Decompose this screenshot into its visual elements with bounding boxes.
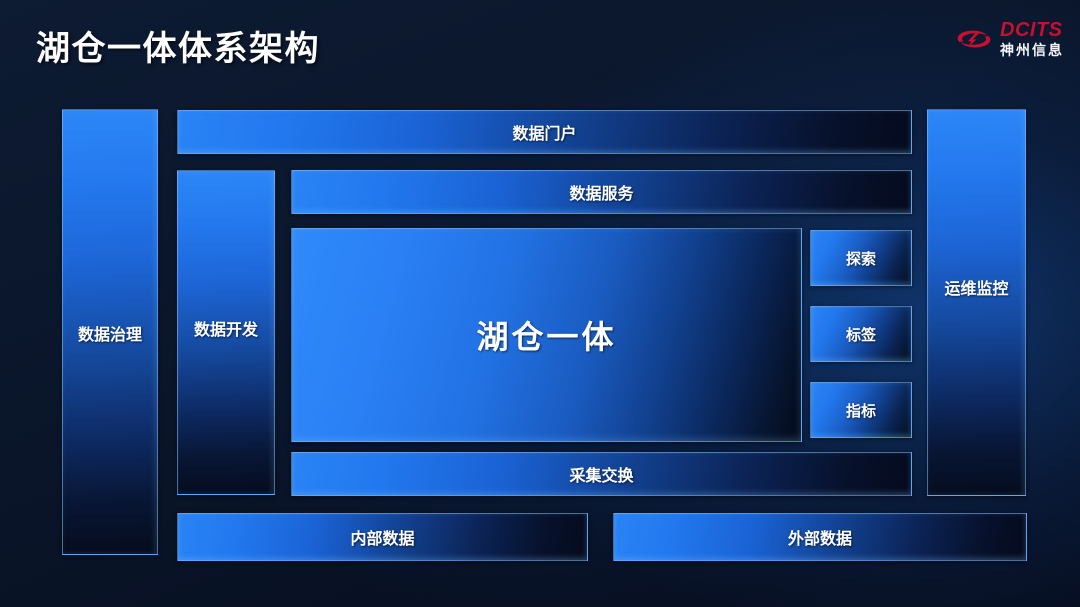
panel-internal-data[interactable]: 内部数据 xyxy=(177,513,588,561)
panel-label: 数据服务 xyxy=(569,180,633,204)
panel-label: 探索 xyxy=(846,248,876,269)
panel-label: 运维监控 xyxy=(944,275,1008,299)
panel-data-development[interactable]: 数据开发 xyxy=(177,170,275,495)
panel-ops-monitoring[interactable]: 运维监控 xyxy=(927,109,1026,496)
panel-data-service[interactable]: 数据服务 xyxy=(291,170,912,214)
brand-logo: DCITS 神州信息 xyxy=(954,20,1064,57)
panel-label: 内部数据 xyxy=(350,525,414,549)
panel-label: 数据开发 xyxy=(194,316,258,340)
panel-label: 标签 xyxy=(846,324,876,345)
panel-label: 外部数据 xyxy=(788,525,852,549)
panel-metric[interactable]: 指标 xyxy=(810,382,912,438)
panel-label: 指标 xyxy=(846,400,876,421)
page-title: 湖仓一体体系架构 xyxy=(36,21,320,70)
panel-explore[interactable]: 探索 xyxy=(810,230,912,286)
slide-canvas: 湖仓一体体系架构 DCITS 神州信息 数据治理 数据门户 数据开发 数据服务 … xyxy=(0,0,1080,607)
panel-external-data[interactable]: 外部数据 xyxy=(613,513,1027,561)
panel-data-portal[interactable]: 数据门户 xyxy=(177,110,912,154)
panel-label: 湖仓一体 xyxy=(476,312,616,358)
panel-lakehouse-core[interactable]: 湖仓一体 xyxy=(291,228,802,442)
panel-label: 数据门户 xyxy=(512,120,576,144)
spiral-logo-icon xyxy=(954,22,994,56)
logo-wordmark: DCITS 神州信息 xyxy=(1000,20,1064,57)
logo-latin-text: DCITS xyxy=(1000,20,1064,40)
panel-tag[interactable]: 标签 xyxy=(810,306,912,362)
panel-collect-exchange[interactable]: 采集交换 xyxy=(291,452,912,496)
panel-label: 数据治理 xyxy=(78,321,142,345)
logo-chinese-text: 神州信息 xyxy=(1000,43,1064,57)
panel-label: 采集交换 xyxy=(569,462,633,486)
panel-data-governance[interactable]: 数据治理 xyxy=(62,109,158,555)
